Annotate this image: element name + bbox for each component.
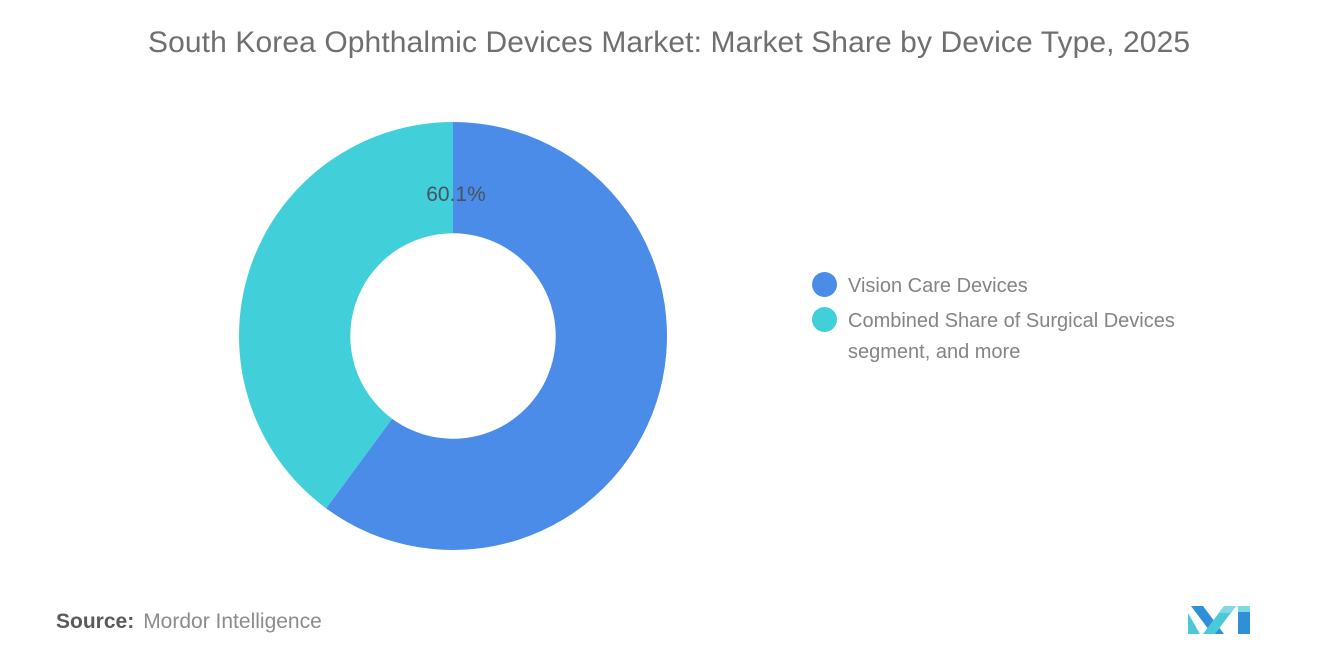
legend-swatch-icon [812,272,837,297]
legend-item-vision-care-devices[interactable]: Vision Care Devices [812,271,1242,302]
mordor-intelligence-logo-icon [1186,600,1252,634]
page-title: South Korea Ophthalmic Devices Market: M… [148,26,1268,60]
chart-legend: Vision Care Devices Combined Share of Su… [812,271,1242,372]
source-label: Source: [56,610,134,634]
legend-item-label: Combined Share of Surgical Devices segme… [848,306,1218,368]
donut-slice-value-label: 60.1% [396,183,516,207]
legend-item-label: Vision Care Devices [848,271,1028,302]
donut-chart: 60.1% [238,121,668,551]
logo-svg [1186,600,1252,634]
source-line: Source: Mordor Intelligence [56,610,322,634]
legend-item-combined-surgical-devices[interactable]: Combined Share of Surgical Devices segme… [812,306,1242,368]
source-value: Mordor Intelligence [143,610,322,634]
legend-swatch-icon [812,307,837,332]
